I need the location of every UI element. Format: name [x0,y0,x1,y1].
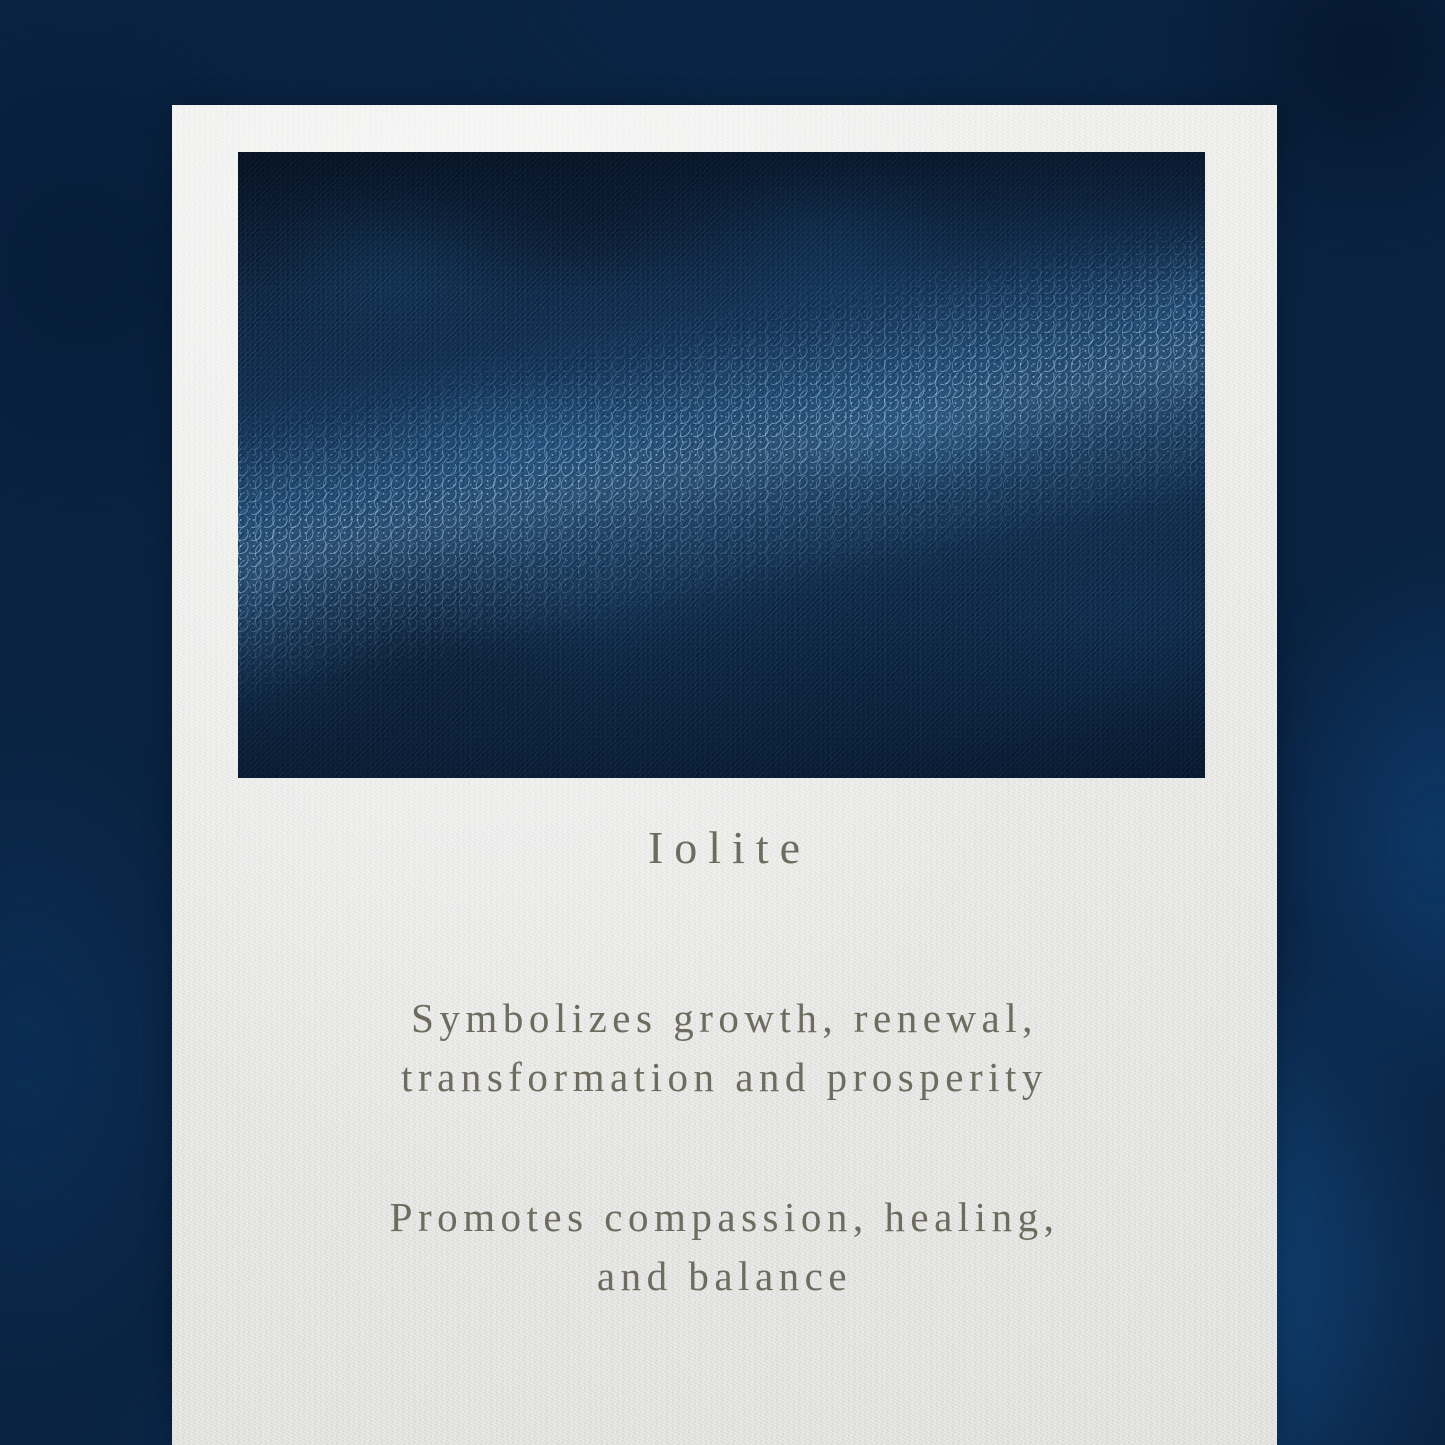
page-title: Iolite [182,825,1277,871]
card-text-block: Iolite Symbolizes growth, renewal, trans… [172,825,1277,1307]
iolite-mineral-macro-photo [238,152,1205,778]
description-2-line-2: and balance [285,1247,1165,1306]
description-1-line-2: transformation and prosperity [285,1048,1165,1107]
description-1-line-1: Symbolizes growth, renewal, [285,989,1165,1048]
paper-card: Iolite Symbolizes growth, renewal, trans… [172,105,1277,1445]
description-2-line-1: Promotes compassion, healing, [285,1188,1165,1247]
description-paragraph-1: Symbolizes growth, renewal, transformati… [285,989,1165,1108]
description-paragraph-2: Promotes compassion, healing, and balanc… [285,1188,1165,1307]
photo-vignette [238,152,1205,778]
